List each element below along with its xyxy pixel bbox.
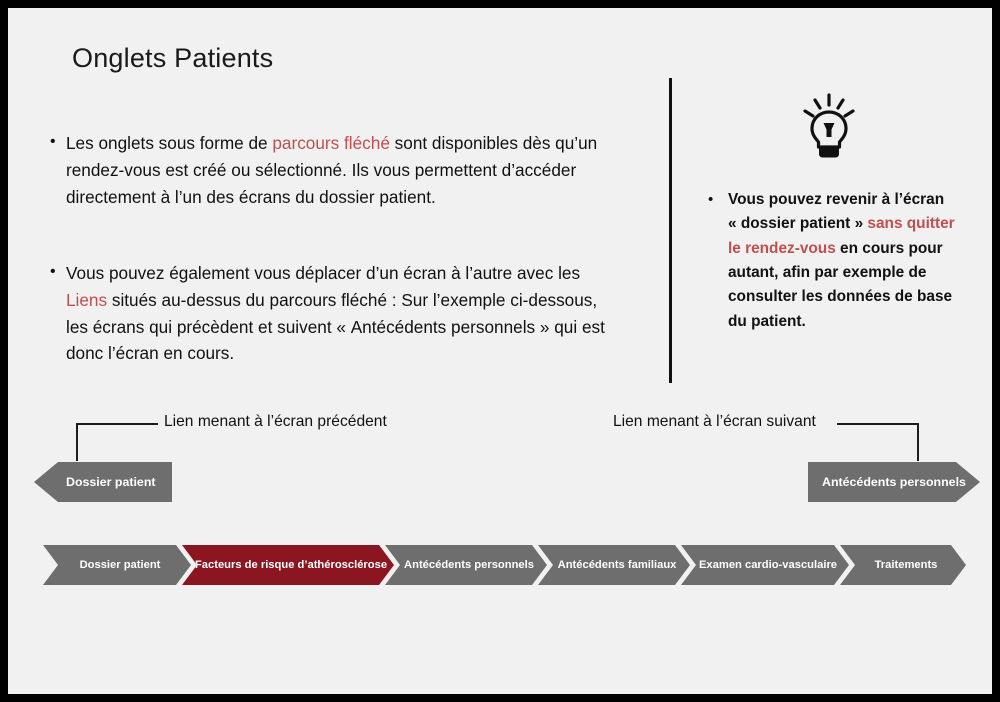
breadcrumb-item[interactable]: Traitements bbox=[840, 545, 966, 585]
callout-connector-previous-horizontal bbox=[76, 423, 158, 425]
body-bullet-1-text: Les onglets sous forme de parcours fléch… bbox=[66, 130, 619, 210]
breadcrumb-item-active[interactable]: Facteurs de risque d’athérosclérose bbox=[182, 545, 394, 585]
callout-connector-next-vertical bbox=[917, 423, 919, 461]
bullet-marker: • bbox=[44, 260, 66, 285]
plain-text: situés au-dessus du parcours fléché : Su… bbox=[66, 290, 605, 364]
callout-connector-previous-vertical bbox=[76, 423, 78, 461]
breadcrumb-item[interactable]: Dossier patient bbox=[43, 545, 191, 585]
callout-connector-next-horizontal bbox=[837, 423, 919, 425]
slide-canvas: Onglets Patients • Les onglets sous form… bbox=[8, 8, 992, 694]
body-bullet-2-text: Vous pouvez également vous déplacer d’un… bbox=[66, 260, 619, 367]
callout-tab-next[interactable]: Antécédents personnels bbox=[808, 462, 980, 502]
vertical-divider bbox=[669, 78, 672, 383]
body-bullet-1: • Les onglets sous forme de parcours flé… bbox=[44, 130, 619, 210]
callout-label-previous: Lien menant à l’écran précédent bbox=[164, 413, 387, 431]
bullet-marker: • bbox=[708, 188, 728, 212]
breadcrumb-item[interactable]: Antécédents familiaux bbox=[538, 545, 690, 585]
tip-bullet: • Vous pouvez revenir à l’écran « dossie… bbox=[708, 188, 970, 334]
breadcrumb: Dossier patientFacteurs de risque d’athé… bbox=[43, 545, 977, 585]
callout-label-next: Lien menant à l’écran suivant bbox=[613, 413, 816, 431]
lightbulb-icon bbox=[794, 92, 864, 162]
body-bullet-2: • Vous pouvez également vous déplacer d’… bbox=[44, 260, 619, 367]
plain-text: Les onglets sous forme de bbox=[66, 133, 272, 153]
breadcrumb-item[interactable]: Examen cardio-vasculaire bbox=[681, 545, 849, 585]
slide-frame: Onglets Patients • Les onglets sous form… bbox=[0, 0, 1000, 702]
page-title: Onglets Patients bbox=[72, 43, 273, 74]
breadcrumb-item[interactable]: Antécédents personnels bbox=[385, 545, 547, 585]
plain-text: Vous pouvez également vous déplacer d’un… bbox=[66, 263, 580, 283]
tip-bullet-text: Vous pouvez revenir à l’écran « dossier … bbox=[728, 188, 970, 334]
callout-tab-previous[interactable]: Dossier patient bbox=[34, 462, 172, 502]
accent-text: parcours fléché bbox=[272, 133, 390, 153]
bullet-marker: • bbox=[44, 130, 66, 155]
accent-text: Liens bbox=[66, 290, 107, 310]
